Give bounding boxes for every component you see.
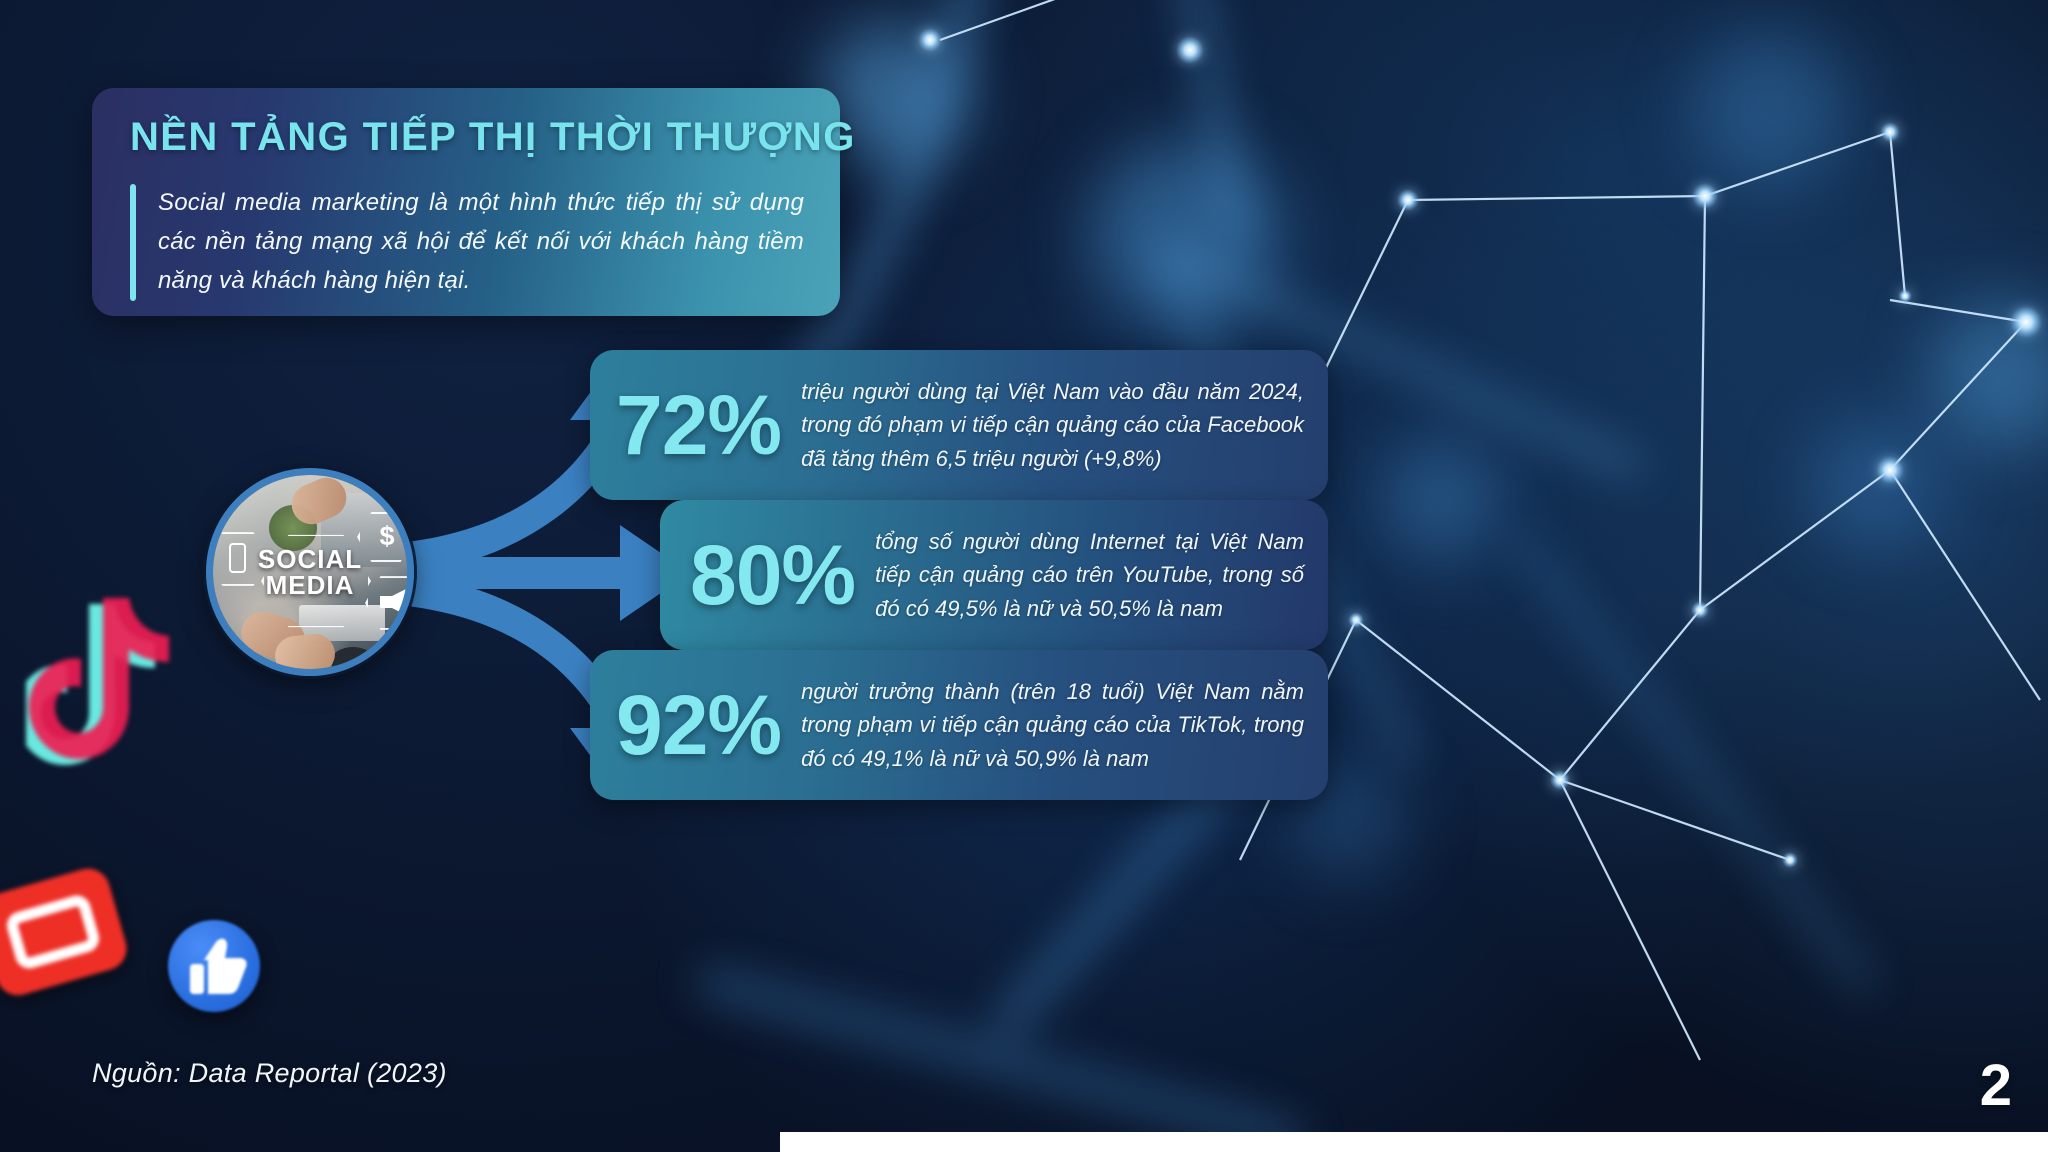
stat-value: 80% bbox=[660, 533, 855, 617]
youtube-screen-shape bbox=[4, 892, 103, 971]
stat-card[interactable]: 92% người trưởng thành (trên 18 tuổi) Vi… bbox=[590, 650, 1328, 800]
bottom-white-bar bbox=[780, 1132, 2048, 1152]
title-card: NỀN TẢNG TIẾP THỊ THỜI THƯỢNG Social med… bbox=[92, 88, 840, 316]
hub-label: SOCIAL MEDIA bbox=[258, 546, 362, 598]
dollar-icon: $ bbox=[377, 519, 397, 553]
stat-card[interactable]: 80% tổng số người dùng Internet tại Việt… bbox=[660, 500, 1328, 650]
facebook-like-icon bbox=[168, 920, 260, 1012]
social-media-hub-image: $ SOCIAL MEDIA bbox=[206, 468, 414, 676]
title-description: Social media marketing là một hình thức … bbox=[158, 184, 804, 301]
youtube-play-triangle bbox=[43, 917, 68, 945]
source-note: Nguồn: Data Reportal (2023) bbox=[92, 1058, 447, 1089]
page-title: NỀN TẢNG TIẾP THỊ THỜI THƯỢNG bbox=[130, 116, 804, 158]
hub-label-line-1: SOCIAL bbox=[258, 546, 362, 572]
title-description-block: Social media marketing là một hình thức … bbox=[130, 184, 804, 301]
page-number: 2 bbox=[1980, 1052, 2012, 1119]
tiktok-icon bbox=[26, 588, 186, 788]
hub-label-line-2: MEDIA bbox=[258, 572, 362, 598]
phone-icon bbox=[229, 543, 246, 573]
slide-canvas: NỀN TẢNG TIẾP THỊ THỜI THƯỢNG Social med… bbox=[0, 0, 2048, 1152]
quote-accent-bar bbox=[130, 184, 136, 301]
stat-description: triệu người dùng tại Việt Nam vào đầu nă… bbox=[781, 375, 1328, 475]
stat-value: 72% bbox=[590, 383, 781, 467]
stat-card[interactable]: 72% triệu người dùng tại Việt Nam vào đầ… bbox=[590, 350, 1328, 500]
stat-value: 92% bbox=[590, 683, 781, 767]
stat-description: tổng số người dùng Internet tại Việt Nam… bbox=[855, 525, 1328, 625]
stat-description: người trưởng thành (trên 18 tuổi) Việt N… bbox=[781, 675, 1328, 775]
